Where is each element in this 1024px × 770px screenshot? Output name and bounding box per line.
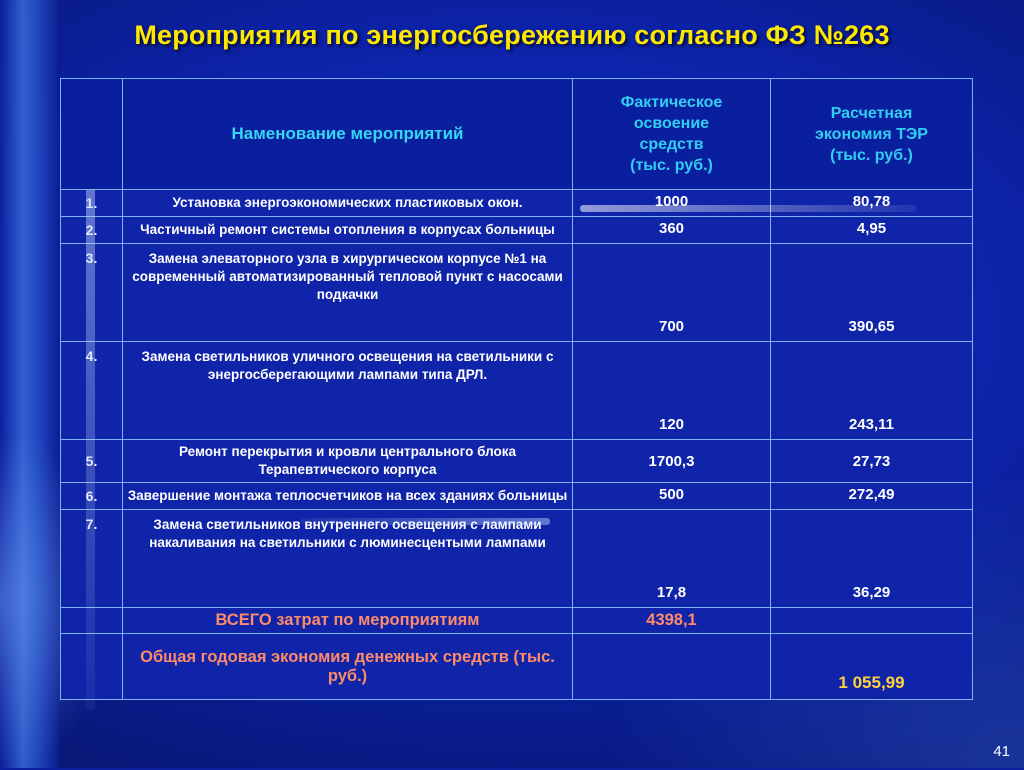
table-row: 1. Установка энергоэкономических пластик… (61, 190, 973, 217)
header-actual-line1: Фактическое (577, 92, 766, 113)
row-index: 6. (61, 483, 123, 510)
page-number: 41 (993, 743, 1010, 760)
header-actual-line3: средств (577, 134, 766, 155)
header-name: Наменование мероприятий (123, 79, 573, 190)
row-actual: 360 (573, 217, 771, 244)
row-name: Ремонт перекрытия и кровли центрального … (123, 440, 573, 483)
header-savings-line3: (тыс. руб.) (775, 145, 968, 166)
header-actual: Фактическое освоение средств (тыс. руб.) (573, 79, 771, 190)
table-body: 1. Установка энергоэкономических пластик… (61, 190, 973, 700)
table-row: 2. Частичный ремонт системы отопления в … (61, 217, 973, 244)
header-savings-line2: экономия ТЭР (775, 124, 968, 145)
total-index (61, 608, 123, 634)
row-index: 3. (61, 244, 123, 342)
table-header-row: Наменование мероприятий Фактическое осво… (61, 79, 973, 190)
table-head: Наменование мероприятий Фактическое осво… (61, 79, 973, 190)
grand-total-label: Общая годовая экономия денежных средств … (123, 634, 573, 700)
row-actual: 17,8 (573, 510, 771, 608)
row-name: Завершение монтажа теплосчетчиков на все… (123, 483, 573, 510)
total-savings (771, 608, 973, 634)
header-savings-line1: Расчетная (775, 103, 968, 124)
table-total-row: ВСЕГО затрат по мероприятиям 4398,1 (61, 608, 973, 634)
grand-total-index (61, 634, 123, 700)
table-row: 5. Ремонт перекрытия и кровли центрально… (61, 440, 973, 483)
table-grand-total-row: Общая годовая экономия денежных средств … (61, 634, 973, 700)
header-actual-line4: (тыс. руб.) (577, 155, 766, 176)
row-savings: 36,29 (771, 510, 973, 608)
row-savings: 272,49 (771, 483, 973, 510)
header-savings: Расчетная экономия ТЭР (тыс. руб.) (771, 79, 973, 190)
measures-table: Наменование мероприятий Фактическое осво… (60, 78, 973, 700)
row-savings: 27,73 (771, 440, 973, 483)
row-savings: 243,11 (771, 342, 973, 440)
row-name: Замена светильников уличного освещения н… (123, 342, 573, 440)
row-actual: 1000 (573, 190, 771, 217)
row-index: 4. (61, 342, 123, 440)
row-name: Частичный ремонт системы отопления в кор… (123, 217, 573, 244)
header-index (61, 79, 123, 190)
total-actual: 4398,1 (573, 608, 771, 634)
total-label: ВСЕГО затрат по мероприятиям (123, 608, 573, 634)
row-savings: 390,65 (771, 244, 973, 342)
measures-table-container: Наменование мероприятий Фактическое осво… (60, 78, 972, 700)
row-savings: 4,95 (771, 217, 973, 244)
row-actual: 500 (573, 483, 771, 510)
table-row: 7. Замена светильников внутреннего освещ… (61, 510, 973, 608)
table-row: 4. Замена светильников уличного освещени… (61, 342, 973, 440)
row-name: Замена элеваторного узла в хирургическом… (123, 244, 573, 342)
row-actual: 700 (573, 244, 771, 342)
row-index: 7. (61, 510, 123, 608)
grand-total-actual (573, 634, 771, 700)
row-actual: 120 (573, 342, 771, 440)
row-index: 2. (61, 217, 123, 244)
row-savings: 80,78 (771, 190, 973, 217)
header-actual-line2: освоение (577, 113, 766, 134)
row-index: 1. (61, 190, 123, 217)
row-name: Замена светильников внутреннего освещени… (123, 510, 573, 608)
table-row: 3. Замена элеваторного узла в хирургичес… (61, 244, 973, 342)
row-index: 5. (61, 440, 123, 483)
row-name: Установка энергоэкономических пластиковы… (123, 190, 573, 217)
slide-title: Мероприятия по энергосбережению согласно… (0, 20, 1024, 51)
grand-total-savings: 1 055,99 (771, 634, 973, 700)
row-actual: 1700,3 (573, 440, 771, 483)
table-row: 6. Завершение монтажа теплосчетчиков на … (61, 483, 973, 510)
